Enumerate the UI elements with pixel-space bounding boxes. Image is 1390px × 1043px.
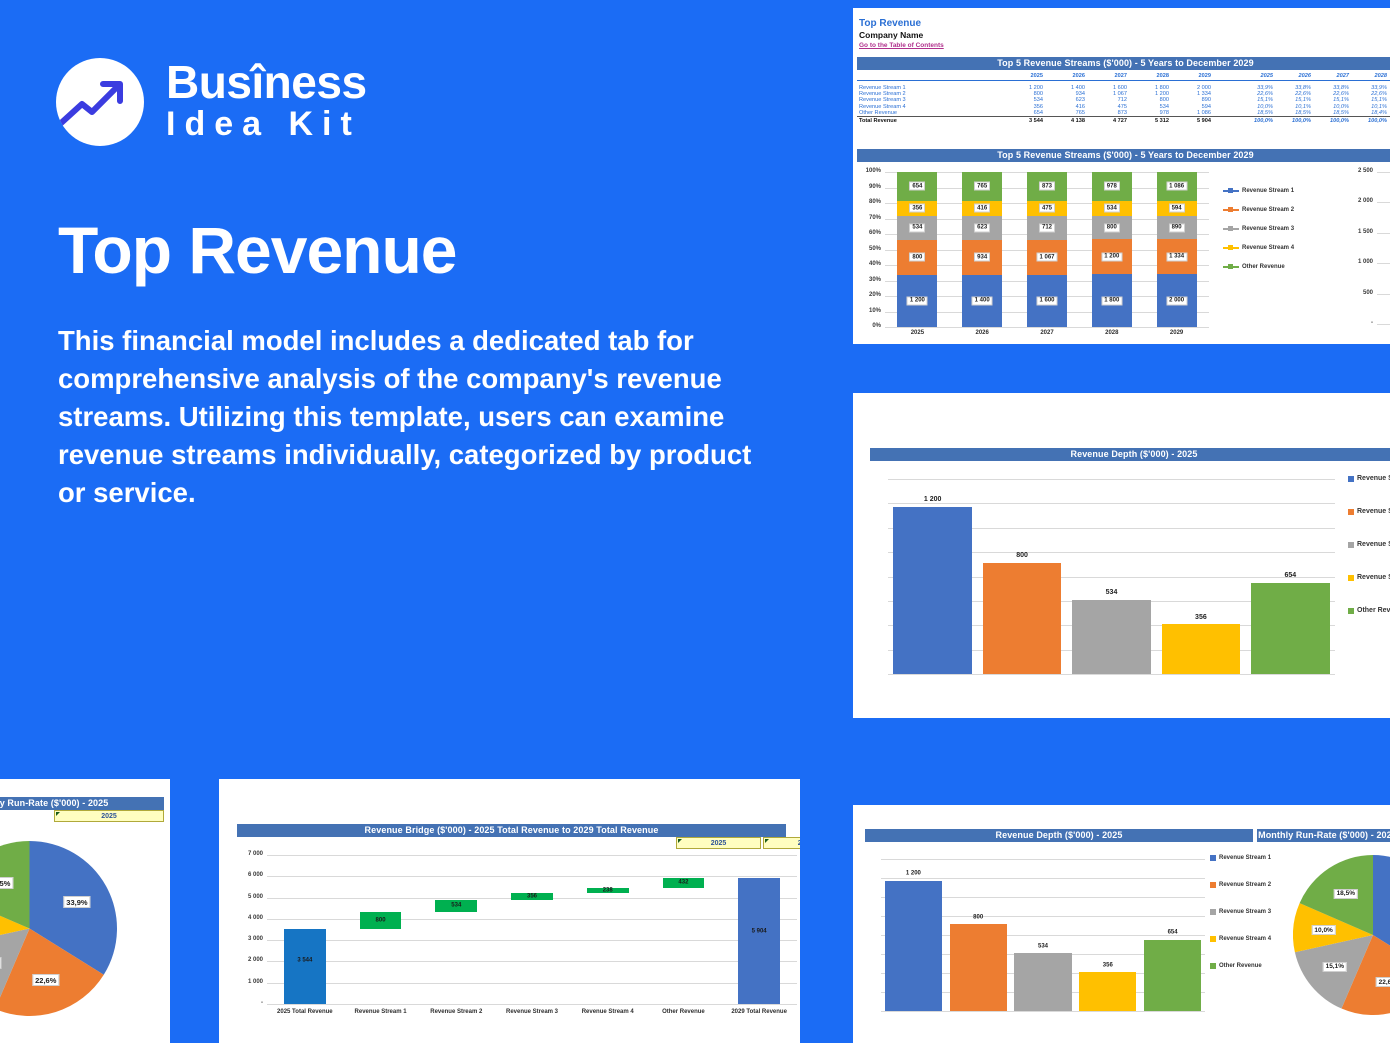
chart-pie-right[interactable]: 33,9%22,6%15,1%10,0%18,5% [1293,855,1390,1015]
legend-stacked-chart: Revenue Stream 1Revenue Stream 2Revenue … [1223,188,1333,283]
legend-point-marker [1228,188,1233,193]
data-label: 934 [974,253,990,262]
data-label: 534 [1104,204,1120,213]
legend-point-marker [1228,226,1233,231]
legend-swatch [1348,476,1354,482]
x-tick-label: Revenue Stream 4 [582,1009,634,1015]
x-tick-label: Other Revenue [662,1009,705,1015]
revenue-depth-mid-title: Revenue Depth ($'000) - 2025 [870,448,1390,461]
panel-revenue-depth-mid: Revenue Depth ($'000) - 2025 1 200800534… [853,393,1390,718]
page-description: This financial model includes a dedicate… [58,322,758,512]
chart-pie-left[interactable]: 33,9%22,6%15,1%10,0%18,5% [0,841,117,1016]
data-label: 416 [974,204,990,213]
legend-revenue-depth-mid: Revenue Stream 1Revenue Stream 2Revenue … [1348,475,1390,640]
waterfall-start-bar [284,929,326,1004]
y-tick-label: 70% [859,215,881,221]
table-col-header: 2027 [1092,73,1134,81]
data-label: 800 [1014,552,1030,560]
legend-item: Revenue Stream 2 [1348,508,1390,515]
data-label: 800 [909,253,925,262]
bridge-year-selector-start[interactable]: 2025 [676,837,761,849]
legend-item-label: Revenue Stream 2 [1242,207,1294,213]
data-label: 1 200 [907,296,928,305]
table-col-header-pct: 2025 [1242,73,1280,81]
data-label: 356 [1101,962,1115,969]
y-tick-label: 3 000 [237,936,263,942]
pie-slice-label: 10,0% [1311,925,1335,935]
revenue-depth-bottom-title: Revenue Depth ($'000) - 2025 [865,829,1253,842]
data-label: 1 400 [972,296,993,305]
monthly-run-rate-left-title: Monthly Run-Rate ($'000) - 2025 [0,797,164,810]
data-label: 1 800 [1101,296,1122,305]
legend-swatch [1348,608,1354,614]
data-label: 1 200 [922,496,944,504]
data-label: 978 [1104,182,1120,191]
bar-column [1079,972,1136,1011]
pie-slice-label: 18,5% [0,877,13,889]
y-tick-label: 5 000 [237,894,263,900]
legend-swatch [1210,855,1216,861]
y-tick-label: 0% [859,323,881,329]
financial-table: 202520262027202820292025202620272028Reve… [857,73,1390,124]
gridline [267,940,797,941]
y-tick-label: 90% [859,184,881,190]
gridline [881,859,1205,860]
gridline [881,1011,1205,1012]
gridline [267,876,797,877]
legend-line-marker [1223,190,1239,192]
x-tick-label: 2025 [911,330,924,336]
gridline [267,961,797,962]
page-title: Top Revenue [58,212,457,288]
line-chart-svg [1343,166,1390,344]
legend-item-label: Revenue Stream 2 [1219,882,1271,888]
legend-item: Revenue Stream 1 [1348,475,1390,482]
table-col-header-pct: 2028 [1356,73,1390,81]
bar-column [1014,953,1071,1011]
data-label: 1 334 [1166,252,1187,261]
data-label: 800 [971,914,985,921]
y-tick-label: - [237,1000,263,1006]
brand-words: Busîness Idea Kit [166,59,367,144]
data-label: 356 [1193,613,1209,621]
y-tick-label: 30% [859,277,881,283]
revenue-bridge-title-text: Revenue Bridge ($'000) - 2025 Total Reve… [365,825,659,835]
gridline [888,479,1335,480]
revenue-depth-bottom-title-text: Revenue Depth ($'000) - 2025 [996,830,1123,840]
table-of-contents-link[interactable]: Go to the Table of Contents [859,41,1390,51]
table-col-header-pct: 2026 [1280,73,1318,81]
table-col-header: 2028 [1134,73,1176,81]
pie-chart-svg [0,841,117,1016]
brand-line-2: Idea Kit [166,105,367,144]
data-label: 1 200 [904,870,923,877]
gridline [267,855,797,856]
data-label: 623 [974,223,990,232]
legend-item: Revenue Stream 4 [1223,245,1333,251]
data-label: 873 [1039,182,1055,191]
bar-column [1072,600,1151,674]
monthly-run-rate-right-title: Monthly Run-Rate ($'000) - 2025 [1257,829,1390,842]
legend-line-marker [1223,228,1239,230]
sheet-subtitle: Company Name [859,30,1390,41]
legend-item-label: Other Revenue [1219,963,1262,969]
y-tick-label: 50% [859,246,881,252]
data-label: 2 000 [1166,296,1187,305]
data-label: 534 [449,902,463,909]
data-label: 654 [909,182,925,191]
legend-item: Other Revenue [1223,264,1333,270]
pie-slice-label: 33,9% [63,896,90,908]
gridline [267,1004,797,1005]
table-total-row: Total Revenue3 5444 1384 7275 3125 90410… [857,117,1390,124]
legend-item: Other Revenue [1348,607,1390,614]
bar-column [885,881,942,1011]
x-tick-label: 2029 [1170,330,1183,336]
data-label: 1 200 [1101,252,1122,261]
y-tick-label: 6 000 [237,872,263,878]
gridline [885,327,1209,328]
data-label: 800 [1104,223,1120,232]
table-col-header: 2029 [1176,73,1218,81]
y-tick-label: 60% [859,230,881,236]
data-label: 1 086 [1166,182,1187,191]
data-label: 1 067 [1036,253,1057,262]
data-label: 890 [1169,223,1185,232]
data-label: 765 [974,182,990,191]
monthly-run-rate-right-title-text: Monthly Run-Rate ($'000) - 2025 [1258,830,1390,840]
panel-revenue-depth-bottom: Revenue Depth ($'000) - 2025 Monthly Run… [853,805,1390,1043]
pie-slice-label: 22,6% [1376,977,1390,987]
legend-swatch [1348,509,1354,515]
y-tick-label: 4 000 [237,915,263,921]
chart-stacked-100-percent[interactable]: 0%10%20%30%40%50%60%70%80%90%100%1 20080… [859,168,1209,343]
data-label: 594 [1169,204,1185,213]
gridline [888,503,1335,504]
legend-item-label: Revenue Stream 3 [1219,909,1271,915]
legend-item-label: Revenue Stream 3 [1242,226,1294,232]
legend-swatch [1348,542,1354,548]
x-tick-label: 2029 Total Revenue [731,1009,787,1015]
bar-column [1251,583,1330,674]
x-tick-label: 2025 Total Revenue [277,1009,333,1015]
y-tick-label: 40% [859,261,881,267]
y-tick-label: 1 000 [237,979,263,985]
sheet-title: Top Revenue [859,18,1390,30]
waterfall-end-bar [738,878,780,1004]
gridline [267,983,797,984]
legend-item: Revenue Stream 2 [1223,207,1333,213]
banner-chart-title: Top 5 Revenue Streams ($'000) - 5 Years … [857,149,1390,162]
y-tick-label: 7 000 [237,851,263,857]
brand-line-1: Busîness [166,59,367,105]
panel-top-revenue-streams: Top Revenue Company Name Go to the Table… [853,8,1390,344]
y-tick-label: 10% [859,308,881,314]
growth-arrow-icon [56,58,144,146]
x-tick-label: 2027 [1040,330,1053,336]
x-tick-label: Revenue Stream 3 [506,1009,558,1015]
gridline [267,919,797,920]
bar-column [983,563,1062,674]
legend-swatch [1210,936,1216,942]
bridge-year-selector-end[interactable]: 2029 [763,837,800,849]
legend-point-marker [1228,245,1233,250]
pie-slice-label: 15,1% [1323,962,1347,972]
year-selector-left[interactable]: 2025 [54,810,164,822]
legend-item-label: Revenue Stream 4 [1219,936,1271,942]
data-label: 654 [1282,572,1298,580]
data-label: 5 904 [750,928,769,935]
slide-root: Busîness Idea Kit Top Revenue This finan… [0,0,1390,1043]
legend-item: Revenue Stream 1 [1223,188,1333,194]
legend-item-label: Revenue Stream 4 [1242,245,1294,251]
chart-revenue-depth-mid[interactable]: 1 200800534356654 [870,465,1335,680]
legend-line-marker [1223,247,1239,249]
revenue-bridge-title: Revenue Bridge ($'000) - 2025 Total Reve… [237,824,786,837]
chart-revenue-depth-bottom[interactable]: 1 200800534356654 [865,847,1205,1017]
financial-table-container: 202520262027202820292025202620272028Reve… [853,70,1390,124]
gridline [888,674,1335,675]
bar-column [1162,624,1241,674]
panel-revenue-bridge: Revenue Bridge ($'000) - 2025 Total Reve… [219,779,800,1043]
chart-revenue-trend-line[interactable]: -5001 0001 5002 0002 500202520262027 [1343,166,1390,344]
monthly-run-rate-left-title-text: Monthly Run-Rate ($'000) - 2025 [0,798,108,808]
table-row: Other Revenue6547658739781 08618,5%18,5%… [857,110,1390,117]
x-tick-label: Revenue Stream 2 [430,1009,482,1015]
legend-swatch [1210,963,1216,969]
pie-slice-label: 18,5% [1334,889,1358,899]
y-tick-label: 2 000 [237,957,263,963]
legend-item: Revenue Stream 3 [1223,226,1333,232]
legend-item-label: Revenue Stream 1 [1219,855,1271,861]
legend-point-marker [1228,207,1233,212]
x-tick-label: 2026 [976,330,989,336]
legend-item-label: Revenue Stream 4 [1357,574,1390,581]
pie-chart-svg [1293,855,1390,1015]
data-label: 3 544 [295,957,314,964]
table-col-header: 2025 [1008,73,1050,81]
bar-column [893,507,972,674]
bar-column [950,924,1007,1011]
legend-item-label: Other Revenue [1357,607,1390,614]
pie-slice-label: 15,1% [0,957,1,969]
data-label: 432 [676,879,690,886]
x-tick-label: Revenue Stream 1 [355,1009,407,1015]
pie-slice-label: 22,6% [32,974,59,986]
legend-swatch [1348,575,1354,581]
x-tick-label: 2028 [1105,330,1118,336]
data-label: 534 [1104,589,1120,597]
legend-item-label: Revenue Stream 1 [1242,188,1294,194]
table-col-header-pct: 2027 [1318,73,1356,81]
legend-point-marker [1228,264,1233,269]
gridline [881,878,1205,879]
y-tick-label: 20% [859,292,881,298]
data-label: 475 [1039,204,1055,213]
data-label: 712 [1039,223,1055,232]
legend-item: Revenue Stream 3 [1348,541,1390,548]
legend-swatch [1210,909,1216,915]
data-label: 238 [601,887,615,894]
data-label: 534 [909,223,925,232]
data-label: 356 [909,204,925,213]
sheet-header: Top Revenue Company Name Go to the Table… [853,8,1390,51]
legend-line-marker [1223,266,1239,268]
data-label: 356 [525,893,539,900]
data-label: 1 600 [1036,296,1057,305]
data-label: 800 [374,917,388,924]
y-tick-label: 100% [859,168,881,174]
revenue-depth-mid-title-text: Revenue Depth ($'000) - 2025 [1071,449,1198,459]
y-tick-label: 80% [859,199,881,205]
legend-item-label: Revenue Stream 2 [1357,508,1390,515]
legend-swatch [1210,882,1216,888]
panel-monthly-run-rate-left: Monthly Run-Rate ($'000) - 2025 2025 33,… [0,779,170,1043]
data-label: 534 [1036,943,1050,950]
legend-line-marker [1223,209,1239,211]
chart-revenue-bridge[interactable]: -1 0002 0003 0004 0005 0006 0007 0003 54… [237,849,797,1024]
banner-table-title: Top 5 Revenue Streams ($'000) - 5 Years … [857,57,1390,70]
legend-item-label: Revenue Stream 1 [1357,475,1390,482]
bar-column [1144,940,1201,1011]
legend-item-label: Revenue Stream 3 [1357,541,1390,548]
table-col-header: 2026 [1050,73,1092,81]
legend-item-label: Other Revenue [1242,264,1285,270]
legend-item: Revenue Stream 4 [1348,574,1390,581]
data-label: 654 [1166,929,1180,936]
brand-lockup: Busîness Idea Kit [56,58,367,146]
